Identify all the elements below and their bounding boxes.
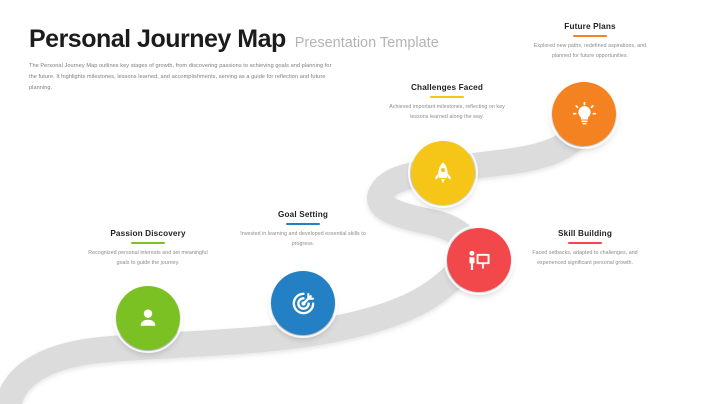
milestone-circle[interactable] — [411, 141, 475, 205]
milestone-node-passion-discovery[interactable] — [116, 286, 180, 350]
caption-title: Passion Discovery — [82, 229, 214, 239]
caption-description: Invested in learning and developed essen… — [237, 229, 369, 250]
caption-accent-rule — [573, 35, 607, 37]
caption-description: Achieved important milestones, reflectin… — [381, 102, 513, 123]
page-subtitle: Presentation Template — [295, 36, 439, 51]
caption-skill-building: Skill Building Faced setbacks, adapted t… — [519, 229, 651, 269]
milestone-circle[interactable] — [447, 228, 511, 292]
caption-future-plans: Future Plans Explored new paths, redefin… — [524, 22, 656, 62]
target-icon — [290, 290, 317, 317]
caption-description: Faced setbacks, adapted to challenges, a… — [519, 248, 651, 269]
rocket-icon — [430, 160, 456, 186]
presentation-icon — [466, 247, 493, 274]
milestone-circle[interactable] — [552, 82, 616, 146]
milestone-node-goal-setting[interactable] — [271, 271, 335, 335]
page-title: Personal Journey Map — [29, 27, 286, 52]
caption-title: Challenges Faced — [381, 83, 513, 93]
caption-passion-discovery: Passion Discovery Recognized personal in… — [82, 229, 214, 269]
title-row: Personal Journey Map Presentation Templa… — [29, 27, 449, 52]
intro-paragraph: The Personal Journey Map outlines key st… — [29, 61, 339, 94]
caption-description: Explored new paths, redefined aspiration… — [524, 41, 656, 62]
caption-challenges-faced: Challenges Faced Achieved important mile… — [381, 83, 513, 123]
caption-title: Future Plans — [524, 22, 656, 32]
milestone-node-skill-building[interactable] — [447, 228, 511, 292]
caption-title: Goal Setting — [237, 210, 369, 220]
caption-accent-rule — [131, 242, 165, 244]
milestone-node-challenges-faced[interactable] — [411, 141, 475, 205]
caption-accent-rule — [286, 223, 320, 225]
caption-goal-setting: Goal Setting Invested in learning and de… — [237, 210, 369, 250]
lightbulb-icon — [571, 101, 598, 128]
journey-map-slide: Personal Journey Map Presentation Templa… — [0, 0, 720, 404]
user-icon — [135, 305, 161, 331]
milestone-node-future-plans[interactable] — [552, 82, 616, 146]
milestone-circle[interactable] — [271, 271, 335, 335]
caption-description: Recognized personal interests and set me… — [82, 248, 214, 269]
caption-accent-rule — [430, 96, 464, 98]
milestone-circle[interactable] — [116, 286, 180, 350]
caption-accent-rule — [568, 242, 602, 244]
caption-title: Skill Building — [519, 229, 651, 239]
